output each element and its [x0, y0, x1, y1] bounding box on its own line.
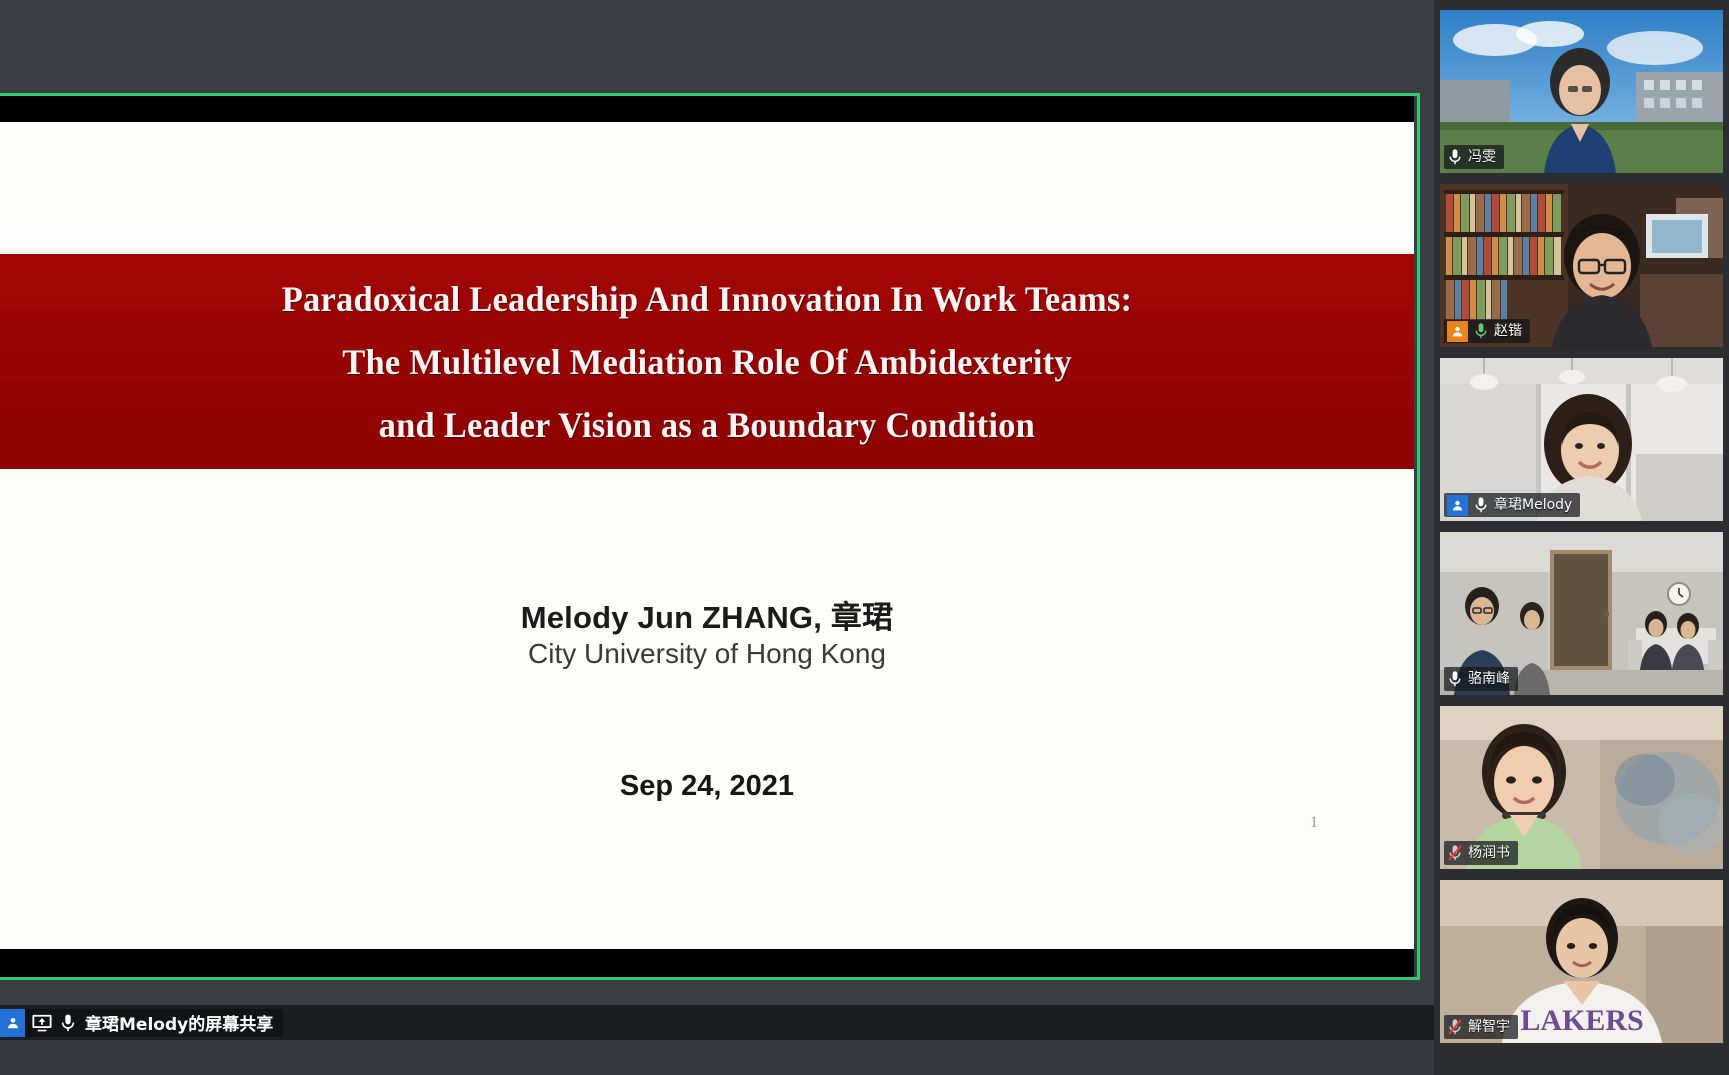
participant-icon: [1447, 321, 1468, 342]
svg-text:LAKERS: LAKERS: [1520, 1004, 1643, 1037]
bottom-status-bar: 章珺Melody的屏幕共享: [0, 1005, 1434, 1040]
microphone-icon: [1473, 496, 1489, 514]
participant-name-3: 骆南峰: [1468, 672, 1510, 686]
presentation-slide[interactable]: Paradoxical Leadership And Innovation In…: [0, 96, 1414, 977]
microphone-icon: [1473, 322, 1489, 340]
screen-share-icon: [31, 1013, 53, 1033]
microphone-muted-icon: [1447, 1018, 1463, 1036]
slide-title-band: Paradoxical Leadership And Innovation In…: [0, 254, 1414, 469]
slide-date: Sep 24, 2021: [0, 770, 1414, 803]
participant-nameplate-3: 骆南峰: [1444, 667, 1518, 691]
slide-page-number: 1: [1310, 814, 1318, 832]
slide-title-line-3: and Leader Vision as a Boundary Conditio…: [379, 407, 1035, 443]
slide-title-line-1: Paradoxical Leadership And Innovation In…: [282, 281, 1133, 317]
screen-share-label: 章珺Melody的屏幕共享: [85, 1010, 273, 1035]
shared-screen-area[interactable]: Paradoxical Leadership And Innovation In…: [0, 0, 1434, 1040]
participant-icon: [0, 1009, 25, 1037]
slide-affiliation: City University of Hong Kong: [0, 638, 1414, 670]
slide-presenter-name: Melody Jun ZHANG, 章珺: [0, 592, 1414, 637]
zoom-meeting-window: Paradoxical Leadership And Innovation In…: [0, 0, 1729, 1075]
microphone-icon: [1447, 670, 1463, 688]
participant-name-2: 章珺Melody: [1494, 498, 1572, 512]
participant-nameplate-5: 解智宇: [1444, 1015, 1518, 1039]
microphone-icon: [59, 1013, 81, 1033]
microphone-muted-icon: [1447, 844, 1463, 862]
participant-tile-2[interactable]: 章珺Melody: [1440, 358, 1723, 521]
slide-title-line-2: The Multilevel Mediation Role Of Ambidex…: [342, 344, 1072, 380]
participant-tile-3[interactable]: 骆南峰: [1440, 532, 1723, 695]
participant-tile-0[interactable]: 冯雯: [1440, 10, 1723, 173]
participant-nameplate-1: 赵锴: [1444, 319, 1530, 343]
participant-name-4: 杨润书: [1468, 846, 1510, 860]
participant-tile-5[interactable]: LAKERS 解智宇: [1440, 880, 1723, 1043]
participant-name-5: 解智宇: [1468, 1020, 1510, 1034]
participant-tile-4[interactable]: 杨润书: [1440, 706, 1723, 869]
participant-filmstrip[interactable]: 冯雯: [1434, 0, 1729, 1075]
participant-nameplate-4: 杨润书: [1444, 841, 1518, 865]
microphone-icon: [1447, 148, 1463, 166]
participant-icon: [1447, 495, 1468, 516]
participant-name-1: 赵锴: [1494, 324, 1522, 338]
slide-canvas: Paradoxical Leadership And Innovation In…: [0, 122, 1414, 949]
participant-nameplate-0: 冯雯: [1444, 145, 1504, 169]
screen-share-indicator[interactable]: 章珺Melody的屏幕共享: [0, 1009, 283, 1037]
participant-nameplate-2: 章珺Melody: [1444, 493, 1580, 517]
participant-name-0: 冯雯: [1468, 150, 1496, 164]
participant-tile-1[interactable]: 赵锴: [1440, 184, 1723, 347]
